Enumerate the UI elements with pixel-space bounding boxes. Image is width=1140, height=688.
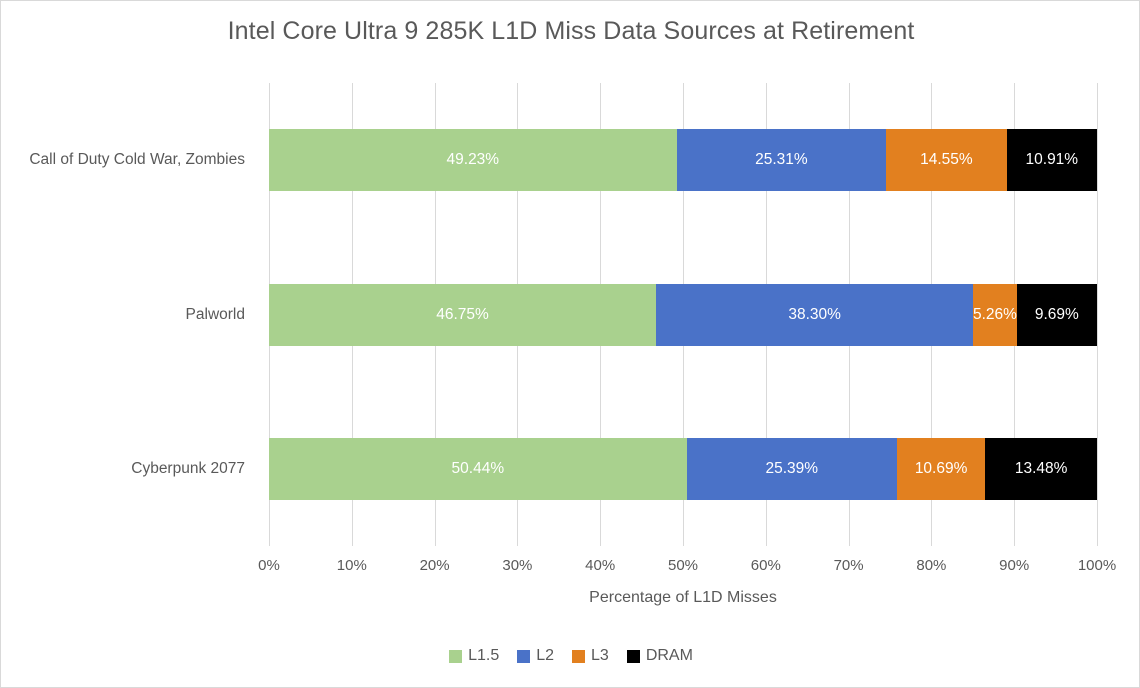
x-axis-tick-label: 30%	[502, 557, 532, 574]
category-axis-label: Palworld	[186, 284, 245, 346]
x-axis-tick-label: 50%	[668, 557, 698, 574]
bar-segment[interactable]: 13.48%	[985, 438, 1097, 500]
bar-segment-label: 10.69%	[915, 460, 968, 478]
x-axis-tick-label: 80%	[916, 557, 946, 574]
x-axis-title: Percentage of L1D Misses	[269, 589, 1097, 607]
bar-segment-label: 46.75%	[436, 306, 489, 324]
legend-item[interactable]: L2	[517, 647, 554, 665]
legend-label: L2	[536, 647, 554, 665]
bar-segment[interactable]: 9.69%	[1017, 284, 1097, 346]
bar-segment[interactable]: 10.69%	[897, 438, 986, 500]
bars-layer: 49.23%25.31%14.55%10.91%46.75%38.30%5.26…	[269, 83, 1097, 546]
x-axis-tick-label: 60%	[751, 557, 781, 574]
x-axis-tick-label: 40%	[585, 557, 615, 574]
bar-segment-label: 25.39%	[765, 460, 818, 478]
bar-segment[interactable]: 5.26%	[973, 284, 1017, 346]
bar-segment-label: 9.69%	[1035, 306, 1079, 324]
legend-item[interactable]: L1.5	[449, 647, 499, 665]
bar-segment[interactable]: 38.30%	[656, 284, 973, 346]
x-axis-tick-label: 70%	[834, 557, 864, 574]
bar-segment[interactable]: 25.31%	[677, 129, 887, 191]
x-axis-tick-label: 90%	[999, 557, 1029, 574]
legend-label: DRAM	[646, 647, 693, 665]
legend-swatch-icon	[572, 650, 585, 663]
bar-segment[interactable]: 25.39%	[687, 438, 897, 500]
bar-row: 49.23%25.31%14.55%10.91%	[269, 129, 1097, 191]
plot-area: 49.23%25.31%14.55%10.91%46.75%38.30%5.26…	[269, 83, 1097, 546]
bar-segment-label: 38.30%	[788, 306, 841, 324]
legend-label: L3	[591, 647, 609, 665]
value-axis-ticks: 0%10%20%30%40%50%60%70%80%90%100%	[269, 557, 1097, 579]
category-axis: Call of Duty Cold War, ZombiesPalworldCy…	[1, 83, 257, 546]
bar-segment-label: 10.91%	[1026, 151, 1079, 169]
chart-legend: L1.5L2L3DRAM	[1, 647, 1140, 665]
x-axis-tick-label: 100%	[1078, 557, 1116, 574]
bar-segment-label: 5.26%	[973, 306, 1017, 324]
x-axis-tick-label: 20%	[420, 557, 450, 574]
chart-title: Intel Core Ultra 9 285K L1D Miss Data So…	[1, 17, 1140, 46]
x-axis-tick-label: 10%	[337, 557, 367, 574]
legend-item[interactable]: DRAM	[627, 647, 693, 665]
category-axis-label: Call of Duty Cold War, Zombies	[29, 129, 245, 191]
bar-segment-label: 14.55%	[920, 151, 973, 169]
bar-segment-label: 13.48%	[1015, 460, 1068, 478]
bar-row: 50.44%25.39%10.69%13.48%	[269, 438, 1097, 500]
bar-row: 46.75%38.30%5.26%9.69%	[269, 284, 1097, 346]
bar-segment-label: 25.31%	[755, 151, 808, 169]
legend-swatch-icon	[517, 650, 530, 663]
category-axis-label: Cyberpunk 2077	[131, 438, 245, 500]
chart-container: Intel Core Ultra 9 285K L1D Miss Data So…	[0, 0, 1140, 688]
bar-segment[interactable]: 50.44%	[269, 438, 687, 500]
gridline	[1097, 83, 1098, 546]
legend-swatch-icon	[627, 650, 640, 663]
bar-segment[interactable]: 49.23%	[269, 129, 677, 191]
legend-label: L1.5	[468, 647, 499, 665]
bar-segment[interactable]: 14.55%	[886, 129, 1006, 191]
bar-segment[interactable]: 46.75%	[269, 284, 656, 346]
bar-segment-label: 50.44%	[452, 460, 505, 478]
bar-segment-label: 49.23%	[447, 151, 500, 169]
legend-swatch-icon	[449, 650, 462, 663]
bar-segment[interactable]: 10.91%	[1007, 129, 1097, 191]
x-axis-tick-label: 0%	[258, 557, 280, 574]
legend-item[interactable]: L3	[572, 647, 609, 665]
